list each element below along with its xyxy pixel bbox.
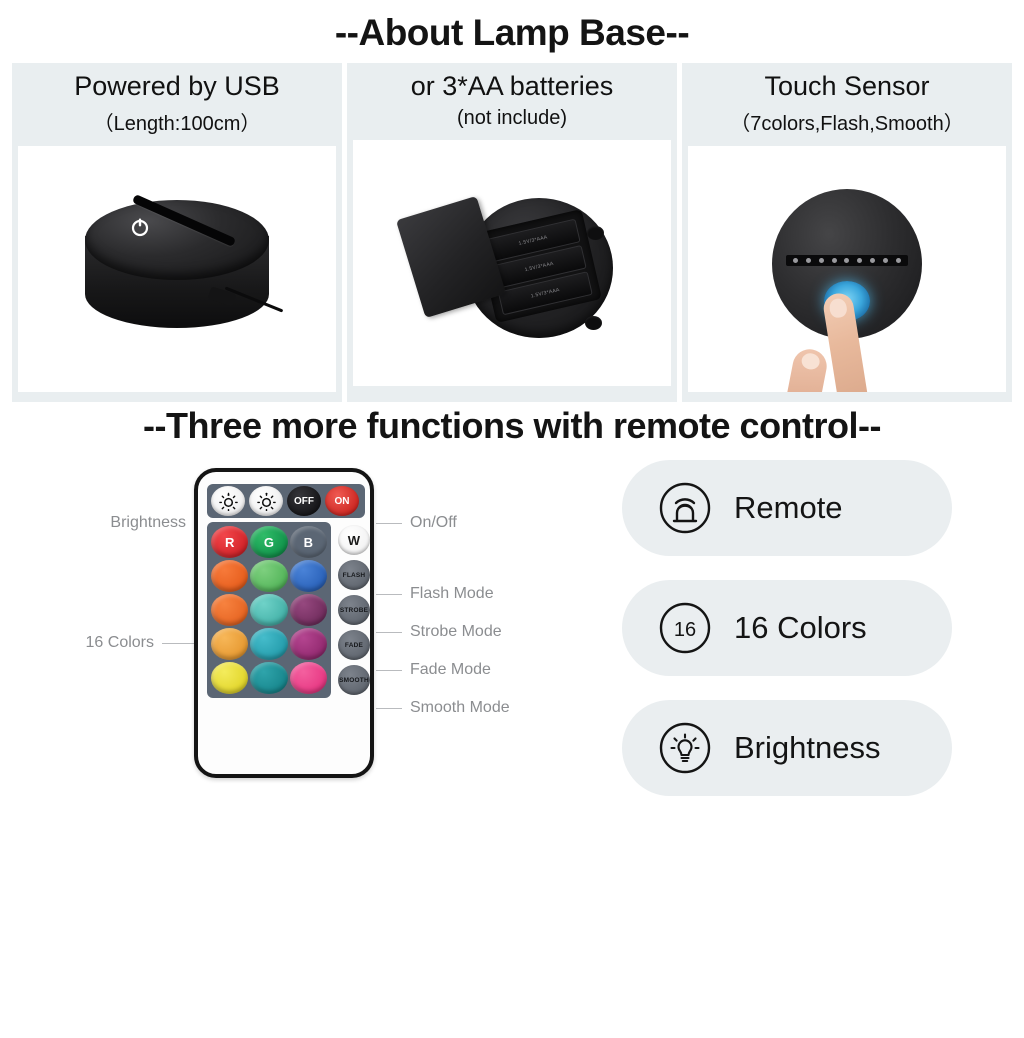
remote-signal-icon [658,481,712,535]
flash-mode-button[interactable]: FLASH [338,560,370,590]
color-button-teal[interactable] [250,628,287,660]
callout-line [376,594,402,595]
color-button-amber[interactable] [211,628,248,660]
led-dot [806,258,811,263]
rubber-foot [585,316,602,330]
color-button-light-green[interactable] [250,560,287,592]
card-title: Touch Sensor [764,71,929,102]
smooth-mode-button[interactable]: SMOOTH [338,665,370,695]
feature-pill-list: Remote 16 16 Colors [622,460,952,796]
sun-up-icon [219,492,238,511]
finger-nail [828,297,848,318]
callout-label: On/Off [410,514,457,532]
led-dot [793,258,798,263]
led-dot [832,258,837,263]
color-button-magenta[interactable] [290,628,327,660]
color-button-label: B [304,535,313,550]
color-button-b[interactable]: B [290,526,327,558]
card-powered-by-usb: Powered by USB （Length:100cm） [12,63,342,402]
callout-line [376,670,402,671]
pill-remote[interactable]: Remote [622,460,952,556]
rubber-foot [587,226,604,240]
pill-label: Remote [734,490,843,526]
callout-on-off: On/Off [376,514,457,532]
callout-fade-mode: Fade Mode [376,661,491,679]
callout-smooth-mode: Smooth Mode [376,699,510,717]
thumb-nail [800,352,821,371]
fade-mode-button[interactable]: FADE [338,630,370,660]
lamp-base-illustration [77,194,277,354]
led-dot [819,258,824,263]
three-functions-title: --Three more functions with remote contr… [0,408,1024,444]
pill-brightness[interactable]: Brightness [622,700,952,796]
battery-compartment-illustration: 1.5V/3*AAA 1.5V/3*AAA 1.5V/3*AAA [407,188,617,348]
off-button[interactable]: OFF [287,486,321,516]
callout-flash-mode: Flash Mode [376,585,494,603]
svg-text:16: 16 [674,619,696,641]
led-dot [896,258,901,263]
color-button-grid: R G B [207,522,331,698]
white-button[interactable]: W [338,525,370,555]
card-touch-sensor: Touch Sensor （7colors,Flash,Smooth） [682,63,1012,402]
lamp-base-touch-photo [688,146,1006,392]
card-title: or 3*AA batteries [411,71,614,102]
color-button-label: R [225,535,234,550]
color-button-orange-red[interactable] [211,560,248,592]
power-symbol-icon [129,216,151,238]
on-button[interactable]: ON [325,486,359,516]
smooth-button-label: SMOOTH [339,677,369,684]
white-button-label: W [348,533,360,548]
callout-label: Fade Mode [410,661,491,679]
on-button-label: ON [335,496,350,507]
led-strip [786,255,908,266]
card-aa-batteries: or 3*AA batteries (not include) 1.5V/3*A… [347,63,677,402]
color-button-g[interactable]: G [250,526,287,558]
card-title: Powered by USB [74,71,280,102]
led-dot [857,258,862,263]
card-subtitle: (not include) [457,107,567,130]
callout-label: Smooth Mode [410,699,510,717]
remote-control: OFF ON R G B [194,468,374,778]
remote-mode-column: W FLASH STROBE FADE SMOOTH [334,522,374,698]
callout-label: 16 Colors [86,634,154,652]
brightness-up-button[interactable] [211,486,245,516]
color-button-dark-teal[interactable] [250,662,287,694]
bulb-icon [658,721,712,775]
led-dot [844,258,849,263]
callout-label: Brightness [110,514,186,532]
callout-line [376,632,402,633]
lamp-base-usb-photo [18,146,336,392]
sixteen-circle-icon: 16 [658,601,712,655]
pill-16-colors[interactable]: 16 16 Colors [622,580,952,676]
card-subtitle: （Length:100cm） [94,107,261,136]
color-button-mint[interactable] [250,594,287,626]
color-button-orange[interactable] [211,594,248,626]
strobe-mode-button[interactable]: STROBE [338,595,370,625]
brightness-down-button[interactable] [249,486,283,516]
pill-label: Brightness [734,730,880,766]
color-button-yellow[interactable] [211,662,248,694]
lamp-base-battery-photo: 1.5V/3*AAA 1.5V/3*AAA 1.5V/3*AAA [353,140,671,386]
callout-strobe-mode: Strobe Mode [376,623,502,641]
callout-line [376,708,402,709]
touch-sensor-illustration [772,189,922,339]
flash-button-label: FLASH [343,572,366,579]
pill-label: 16 Colors [734,610,867,646]
remote-control-section: Brightness 16 Colors On/Off Flash Mode S… [0,452,1024,922]
callout-label: Flash Mode [410,585,494,603]
fade-button-label: FADE [345,642,363,649]
off-button-label: OFF [294,496,314,507]
thumb [784,346,829,392]
color-button-plum[interactable] [290,594,327,626]
card-subtitle: （7colors,Flash,Smooth） [730,107,963,136]
callout-line [376,523,402,524]
led-dot [883,258,888,263]
lamp-base-cards-row: Powered by USB （Length:100cm） or 3*AA ba… [0,63,1024,402]
sun-down-icon [257,492,276,511]
strobe-button-label: STROBE [340,607,368,614]
color-button-royal-blue[interactable] [290,560,327,592]
remote-top-row: OFF ON [207,484,365,518]
color-button-label: G [264,535,274,550]
about-lamp-base-title: --About Lamp Base-- [0,14,1024,51]
led-dot [870,258,875,263]
color-button-pink[interactable] [290,662,327,694]
callout-label: Strobe Mode [410,623,502,641]
color-button-r[interactable]: R [211,526,248,558]
